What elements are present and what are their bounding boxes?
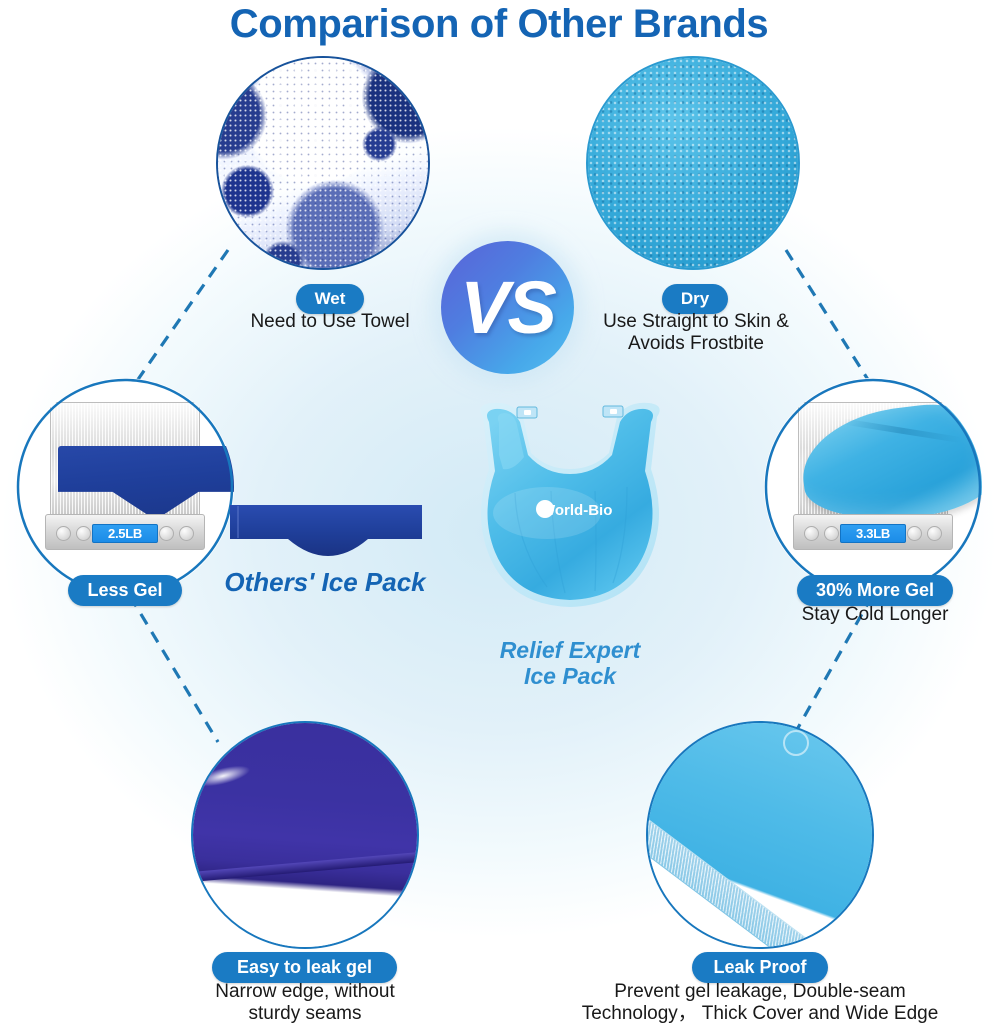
badge-more-gel: 30% More Gel [797,575,953,606]
wide-edge-macro-photo [646,721,874,949]
seam-macro-photo [191,721,419,949]
relief-pack-label: Relief Expert Ice Pack [470,638,670,690]
more-gel-circle-outline [764,378,982,596]
wet-towel-photo [216,56,430,270]
connector-lessgel-to-leak [130,596,218,742]
caption-leak-proof: Prevent gel leakage, Double-seam Technol… [540,981,980,1026]
badge-leak-proof: Leak Proof [692,952,828,983]
caption-wet: Need to Use Towel [220,311,440,333]
purple-fabric-texture [193,723,417,947]
page-title: Comparison of Other Brands [0,2,998,47]
brand-logo-text: World-Bio [541,502,612,519]
relief-expert-ice-pack-product: World-Bio [455,395,685,620]
others-pack-label: Others' Ice Pack [180,568,470,597]
caption-dry: Use Straight to Skin & Avoids Frostbite [580,311,812,356]
less-gel-circle-outline [16,378,234,596]
world-bio-logo: World-Bio [536,500,612,519]
vs-badge: VS [441,241,574,374]
vs-label: VS [460,271,555,345]
others-ice-pack-product [228,503,424,569]
pack-tag-icon [783,730,809,756]
badge-less-gel: Less Gel [68,575,182,606]
dry-fleece-photo [586,56,800,270]
badge-easy-leak: Easy to leak gel [212,952,397,983]
wet-towel-speckle [218,58,428,268]
caption-easy-leak: Narrow edge, without sturdy seams [180,981,430,1026]
dry-fleece-speckle [588,58,798,268]
badge-wet: Wet [296,284,364,314]
caption-more-gel: Stay Cold Longer [776,604,974,626]
badge-dry: Dry [662,284,728,314]
connector-wet-to-lessgel [132,250,228,388]
